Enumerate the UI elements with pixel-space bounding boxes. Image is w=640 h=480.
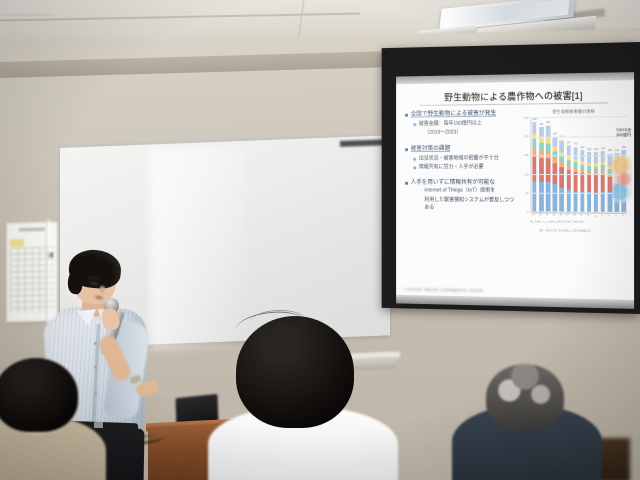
chart-bar-label: 155 <box>608 149 612 152</box>
chart-bar-segment <box>546 181 550 212</box>
chart-bar: 191 <box>560 140 564 212</box>
presentation-slide: 野生動物による農作物への被害[1] 全国で野生動物による被害が発生 被害金額：毎… <box>396 80 634 300</box>
chart-x-tick-label: 29 <box>579 214 583 218</box>
chart-bar: 161 <box>601 151 605 212</box>
chart-bar-segment <box>532 122 536 133</box>
chart-bar-label: 158 <box>587 148 591 151</box>
chart-bar: 230 <box>546 126 550 213</box>
chart-x-tick-label: 22 <box>531 213 535 217</box>
chart-x-tick-label: 27 <box>565 214 569 218</box>
chart-y-tick-label: 250 <box>524 117 528 120</box>
poster-title-bar <box>19 228 45 232</box>
chart-bar-segment <box>539 181 543 212</box>
chart-x-tick-label: 4 <box>614 214 618 218</box>
chart-bar-segment <box>594 193 598 213</box>
chart-bar-segment <box>601 174 605 192</box>
bullet-text: 出没状況・被害地域の把握が不十分 <box>419 155 499 163</box>
diamond-bullet-icon <box>413 166 417 170</box>
chart-y-tick-label: 0 <box>527 211 528 214</box>
shirt-button <box>94 342 97 345</box>
bullet-level2: 出没状況・被害地域の把握が不十分 <box>413 155 516 163</box>
bullet-text: 被害金額：毎年150億円以上 <box>419 120 482 128</box>
damage-amount-chart: 野生鳥獣被害額の推移 050100150200250 2392262301991… <box>518 108 630 238</box>
slide-bullet-list: 全国で野生動物による被害が発生 被害金額：毎年150億円以上 （2019〜202… <box>405 109 516 215</box>
chart-bar-segment <box>532 139 536 148</box>
chart-bar: 158 <box>594 153 598 213</box>
chart-bar-segment <box>553 137 557 146</box>
diamond-bullet-icon <box>413 123 417 127</box>
annotation-line2: 164億円 <box>616 133 631 138</box>
bullet-text: 情報共有に労力・人手が必要 <box>419 163 484 171</box>
chart-bar-segment <box>601 191 605 212</box>
chart-bar-segment <box>580 192 584 213</box>
chart-bar-segment <box>587 192 591 213</box>
chart-annotation: 令和5年度 164億円 <box>616 128 631 137</box>
shirt-button <box>94 366 97 369</box>
chart-bar-label: 164 <box>622 146 626 149</box>
chart-y-tick-label: 150 <box>524 154 528 157</box>
chart-bar-segment <box>573 172 577 191</box>
diamond-bullet-icon <box>413 157 417 161</box>
chart-bar: 172 <box>573 147 577 212</box>
poster-highlight <box>10 239 24 246</box>
chart-x-tick-label: 元 <box>593 214 597 218</box>
chart-y-tick-label: 50 <box>526 192 529 195</box>
audience-right-head <box>486 364 564 430</box>
chart-x-tick-label: 25 <box>552 213 556 217</box>
chart-bar-segment <box>587 174 591 192</box>
poster-rail <box>2 14 54 16</box>
chart-bar-segment <box>580 150 584 161</box>
chart-bar: 158 <box>587 153 591 213</box>
chart-x-tick-label: 30 <box>586 214 590 218</box>
chart-bar-label: 161 <box>601 147 605 150</box>
square-bullet-icon <box>405 181 408 184</box>
chart-bar-segment <box>580 174 584 192</box>
chart-x-tick-label: 26 <box>559 213 563 217</box>
chart-bar-segment <box>532 181 536 212</box>
chart-x-tick-label: 3 <box>607 214 611 218</box>
chart-bar: 155 <box>608 154 612 213</box>
chart-bar-label: 230 <box>546 121 550 124</box>
chart-bar: 199 <box>553 137 557 212</box>
chart-y-axis: 050100150200250 <box>518 118 529 212</box>
chart-bar: 164 <box>580 150 584 212</box>
chart-title: 野生鳥獣被害額の推移 <box>518 108 630 115</box>
lecture-room-photo: 野生動物による農作物への被害[1] 全国で野生動物による被害が発生 被害金額：毎… <box>0 0 640 480</box>
chart-bar-label: 239 <box>533 118 537 121</box>
bullet-level1: 全国で野生動物による被害が発生 <box>405 109 516 119</box>
chart-bar-segment <box>539 158 543 181</box>
bullet-level2: 被害金額：毎年150億円以上 <box>413 119 516 128</box>
chart-bar-label: 158 <box>594 148 598 151</box>
chart-x-tick-label: 28 <box>572 214 576 218</box>
chart-bar-label: 164 <box>580 146 584 149</box>
chart-y-tick-label: 200 <box>524 136 528 139</box>
chart-bar-segment <box>539 143 543 151</box>
chart-bar-label: 156 <box>615 149 619 152</box>
bullet-subtext: 利用した獣害検知システムが普及しつつある <box>424 196 516 212</box>
chart-y-tick-label: 100 <box>524 173 528 176</box>
chart-bar-label: 226 <box>539 123 543 126</box>
audience-center-hair-strand <box>250 309 307 334</box>
projection-screen: 野生動物による農作物への被害[1] 全国で野生動物による被害が発生 被害金額：毎… <box>382 42 640 314</box>
bullet-subtext: Internet of Things（IoT）技術を <box>424 187 516 195</box>
shirt-button <box>94 392 97 395</box>
chart-x-axis: 222324252627282930元2345 <box>531 213 627 218</box>
chart-bar-label: 176 <box>567 141 571 144</box>
chart-bar-segment <box>601 151 605 162</box>
chart-bar-segment <box>573 191 577 212</box>
slide-footer: [1] 農林水産省「野生鳥獣による農作物被害状況」令和5年度 <box>403 287 628 296</box>
chart-bar: 176 <box>566 146 570 213</box>
chart-x-tick-label: 5 <box>621 214 625 218</box>
square-bullet-icon <box>405 113 408 116</box>
chart-x-tick-label: 24 <box>545 213 549 217</box>
chart-bar-segment <box>546 158 550 181</box>
chart-bar-segment <box>560 188 564 213</box>
bullet-subtext: （2019〜2023） <box>424 128 516 137</box>
screen-surface: 野生動物による農作物への被害[1] 全国で野生動物による被害が発生 被害金額：毎… <box>396 80 634 300</box>
bullet-level2: 情報共有に労力・人手が必要 <box>413 163 516 171</box>
chart-x-tick-label: 23 <box>538 213 542 217</box>
chart-bar: 226 <box>539 127 543 212</box>
chart-bar-segment <box>560 140 564 152</box>
bullet-level1: 人手を用いずに情報共有が可能な <box>405 178 516 187</box>
bullet-text: 全国で野生動物による被害が発生 <box>411 109 497 119</box>
chart-bar-segment <box>560 167 564 187</box>
presenter-nose <box>100 286 105 293</box>
chart-bar-segment <box>594 175 598 193</box>
audience-left-head <box>0 358 78 432</box>
chart-map-inset <box>612 156 632 202</box>
bullet-text: 人手を用いずに情報共有が可能な <box>411 178 495 187</box>
chart-bar-segment <box>573 147 577 158</box>
chart-bar-segment <box>553 184 557 213</box>
square-bullet-icon <box>405 148 408 151</box>
chart-legend: ■シカ ■イノシシ ■サル ■カラス ■クマ ■その他 <box>531 219 628 224</box>
chart-bar-segment <box>608 177 612 192</box>
bullet-level1: 被害対策の課題 <box>405 144 516 153</box>
chart-x-tick-label: 2 <box>600 214 604 218</box>
chart-bar-segment <box>532 155 536 181</box>
chart-source-note: 資料：農林水産省「野生鳥獣による農作物被害状況」 <box>539 228 630 233</box>
bullet-text: 被害対策の課題 <box>411 144 451 153</box>
chart-bar-segment <box>546 144 550 152</box>
chart-bar-label: 172 <box>573 143 577 146</box>
chart-bar-segment <box>608 192 612 213</box>
